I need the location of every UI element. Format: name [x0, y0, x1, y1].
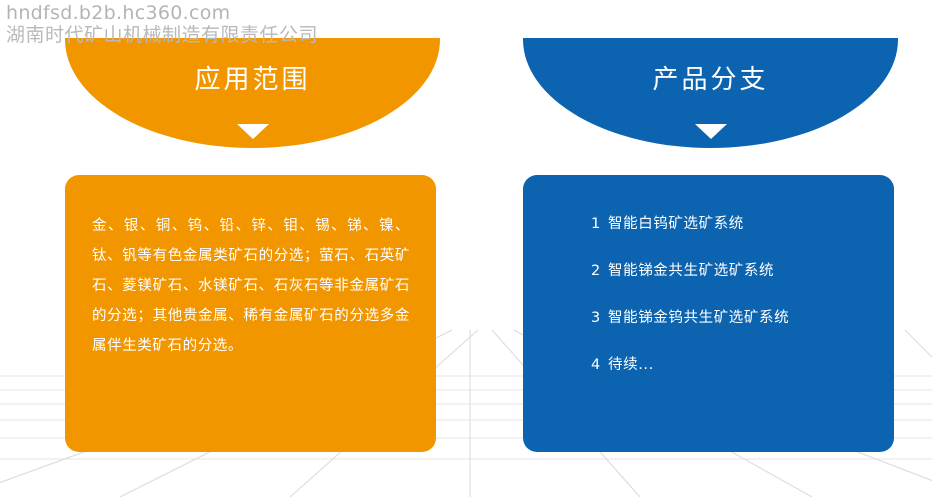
list-item-label: 智能白钨矿选矿系统	[608, 212, 891, 233]
product-branch-title: 产品分支	[523, 59, 898, 96]
triangle-down-icon	[237, 124, 269, 139]
application-scope-column: 应用范围 金、银、铜、钨、铅、锌、钼、锡、锑、镍、钛、钒等有色金属类矿石的分选；…	[65, 38, 440, 148]
list-item[interactable]: 1智能白钨矿选矿系统	[591, 212, 891, 233]
list-item[interactable]: 2智能锑金共生矿选矿系统	[591, 259, 891, 280]
list-item-index: 4	[591, 357, 608, 373]
application-scope-header: 应用范围	[65, 38, 440, 148]
product-branch-column: 产品分支 1智能白钨矿选矿系统2智能锑金共生矿选矿系统3智能锑金钨共生矿选矿系统…	[523, 38, 898, 148]
application-scope-text: 金、银、铜、钨、铅、锌、钼、锡、锑、镍、钛、钒等有色金属类矿石的分选；萤石、石英…	[92, 211, 410, 361]
list-item[interactable]: 4待续...	[591, 353, 891, 374]
product-branch-list: 1智能白钨矿选矿系统2智能锑金共生矿选矿系统3智能锑金钨共生矿选矿系统4待续..…	[591, 212, 891, 400]
product-branch-panel: 1智能白钨矿选矿系统2智能锑金共生矿选矿系统3智能锑金钨共生矿选矿系统4待续..…	[523, 175, 894, 452]
triangle-down-icon	[695, 124, 727, 139]
application-scope-panel: 金、银、铜、钨、铅、锌、钼、锡、锑、镍、钛、钒等有色金属类矿石的分选；萤石、石英…	[65, 175, 436, 452]
slide-canvas: hndfsd.b2b.hc360.com 湖南时代矿山机械制造有限责任公司 应用…	[0, 0, 932, 497]
list-item[interactable]: 3智能锑金钨共生矿选矿系统	[591, 306, 891, 327]
list-item-label: 智能锑金钨共生矿选矿系统	[608, 306, 891, 327]
list-item-label: 待续...	[608, 353, 891, 374]
product-branch-header: 产品分支	[523, 38, 898, 148]
list-item-index: 1	[591, 216, 608, 232]
list-item-index: 3	[591, 310, 608, 326]
application-scope-title: 应用范围	[65, 59, 440, 96]
list-item-label: 智能锑金共生矿选矿系统	[608, 259, 891, 280]
list-item-index: 2	[591, 263, 608, 279]
